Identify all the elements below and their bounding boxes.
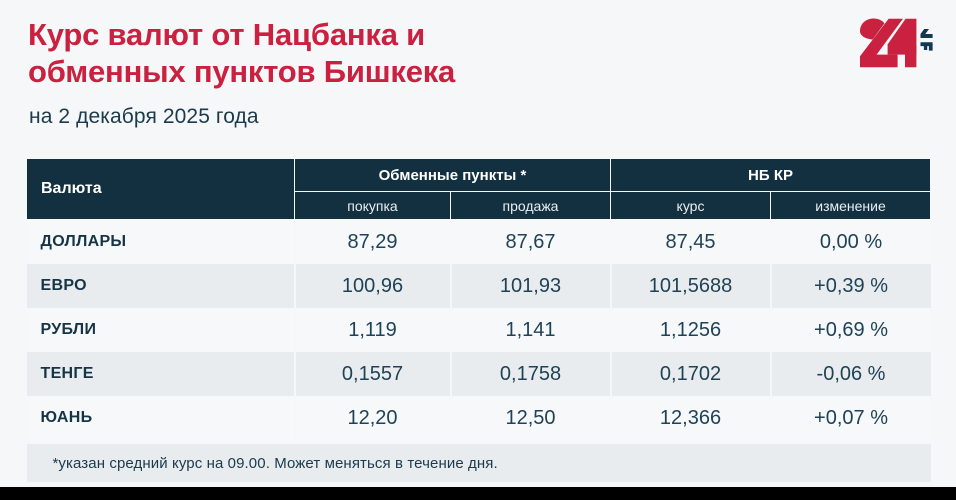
cell-buy: 12,20 [295,396,451,440]
cell-sell: 12,50 [451,396,611,440]
cell-sell: 0,1758 [451,352,611,396]
column-header-change: изменение [771,192,931,220]
cell-sell: 1,141 [451,308,611,352]
cell-change: -0,06 % [771,352,931,396]
logo-icon [858,18,934,68]
table-header-row-groups: Валюта Обменные пункты * НБ КР [27,159,931,192]
table-row: ТЕНГЕ 0,1557 0,1758 0,1702 -0,06 % [27,352,931,396]
cell-rate: 1,1256 [611,308,771,352]
table-footnote-row: *указан средний курс на 09.00. Может мен… [27,444,931,482]
page-title-line-1: Курс валют от Нацбанка и [28,17,425,52]
cell-currency: РУБЛИ [27,308,295,352]
cell-sell: 101,93 [451,264,611,308]
cell-rate: 101,5688 [611,264,771,308]
bottom-bar [0,487,956,500]
table-row: РУБЛИ 1,119 1,141 1,1256 +0,69 % [27,308,931,352]
cell-rate: 87,45 [611,220,771,265]
column-header-sell: продажа [451,192,611,220]
page-title-line-2: обменных пунктов Бишкека [28,53,668,90]
table-footnote: *указан средний курс на 09.00. Может мен… [27,444,931,482]
currency-rates-table: Валюта Обменные пункты * НБ КР покупка п… [26,158,931,482]
poster-canvas: Курс валют от Нацбанка и обменных пункто… [0,0,956,500]
brand-logo-24kg [858,18,934,68]
column-header-currency: Валюта [27,159,295,220]
table-header: Валюта Обменные пункты * НБ КР покупка п… [27,159,931,220]
table-row: ДОЛЛАРЫ 87,29 87,67 87,45 0,00 % [27,220,931,265]
cell-currency: ЮАНЬ [27,396,295,440]
column-group-exchange-offices: Обменные пункты * [295,159,611,192]
cell-buy: 87,29 [295,220,451,265]
table-body: ДОЛЛАРЫ 87,29 87,67 87,45 0,00 % ЕВРО 10… [27,220,931,483]
column-header-buy: покупка [295,192,451,220]
cell-currency: ТЕНГЕ [27,352,295,396]
cell-currency: ДОЛЛАРЫ [27,220,295,265]
cell-rate: 0,1702 [611,352,771,396]
column-header-rate: курс [611,192,771,220]
cell-rate: 12,366 [611,396,771,440]
table-row: ЕВРО 100,96 101,93 101,5688 +0,39 % [27,264,931,308]
cell-buy: 0,1557 [295,352,451,396]
cell-change: +0,69 % [771,308,931,352]
column-group-nbkr: НБ КР [611,159,931,192]
cell-buy: 100,96 [295,264,451,308]
cell-change: +0,07 % [771,396,931,440]
cell-buy: 1,119 [295,308,451,352]
cell-change: 0,00 % [771,220,931,265]
page-subtitle: на 2 декабря 2025 года [29,105,259,129]
cell-currency: ЕВРО [27,264,295,308]
page-title: Курс валют от Нацбанка и обменных пункто… [28,16,668,90]
cell-sell: 87,67 [451,220,611,265]
cell-change: +0,39 % [771,264,931,308]
table-row: ЮАНЬ 12,20 12,50 12,366 +0,07 % [27,396,931,440]
